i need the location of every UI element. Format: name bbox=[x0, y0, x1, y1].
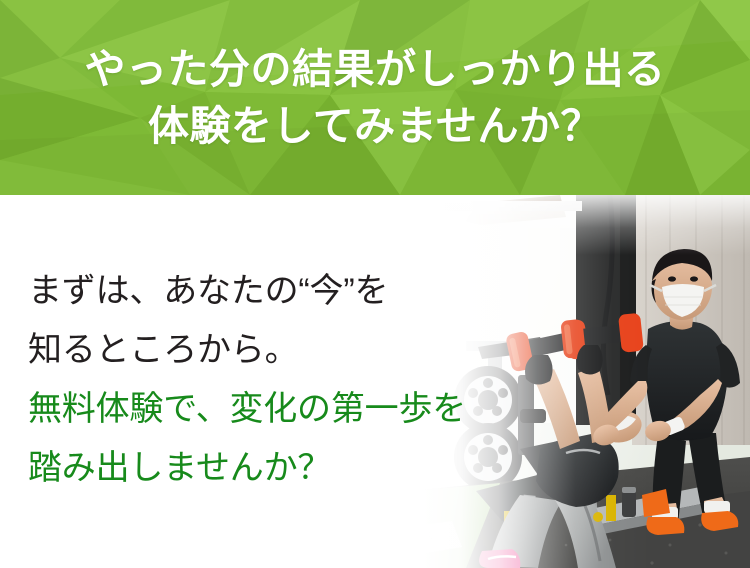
copy-line-2: 知るところから。 bbox=[28, 321, 466, 380]
photo-top-fade-overlay bbox=[370, 195, 750, 255]
body-copy: まずは、あなたの“今”を 知るところから。 無料体験で、変化の第一歩を 踏み出し… bbox=[28, 262, 466, 498]
copy-line-3: 無料体験で、変化の第一歩を bbox=[28, 380, 466, 439]
banner-headline: やった分の結果がしっかり出る 体験をしてみませんか？ bbox=[0, 0, 750, 195]
promo-banner-page: やった分の結果がしっかり出る 体験をしてみませんか？ bbox=[0, 0, 750, 568]
copy-line-4: 踏み出しませんか？ bbox=[28, 439, 466, 498]
headline-banner: やった分の結果がしっかり出る 体験をしてみませんか？ bbox=[0, 0, 750, 195]
copy-line-1: まずは、あなたの“今”を bbox=[28, 262, 466, 321]
banner-headline-line-1: やった分の結果がしっかり出る bbox=[85, 43, 666, 95]
banner-headline-line-2: 体験をしてみませんか？ bbox=[148, 100, 602, 152]
